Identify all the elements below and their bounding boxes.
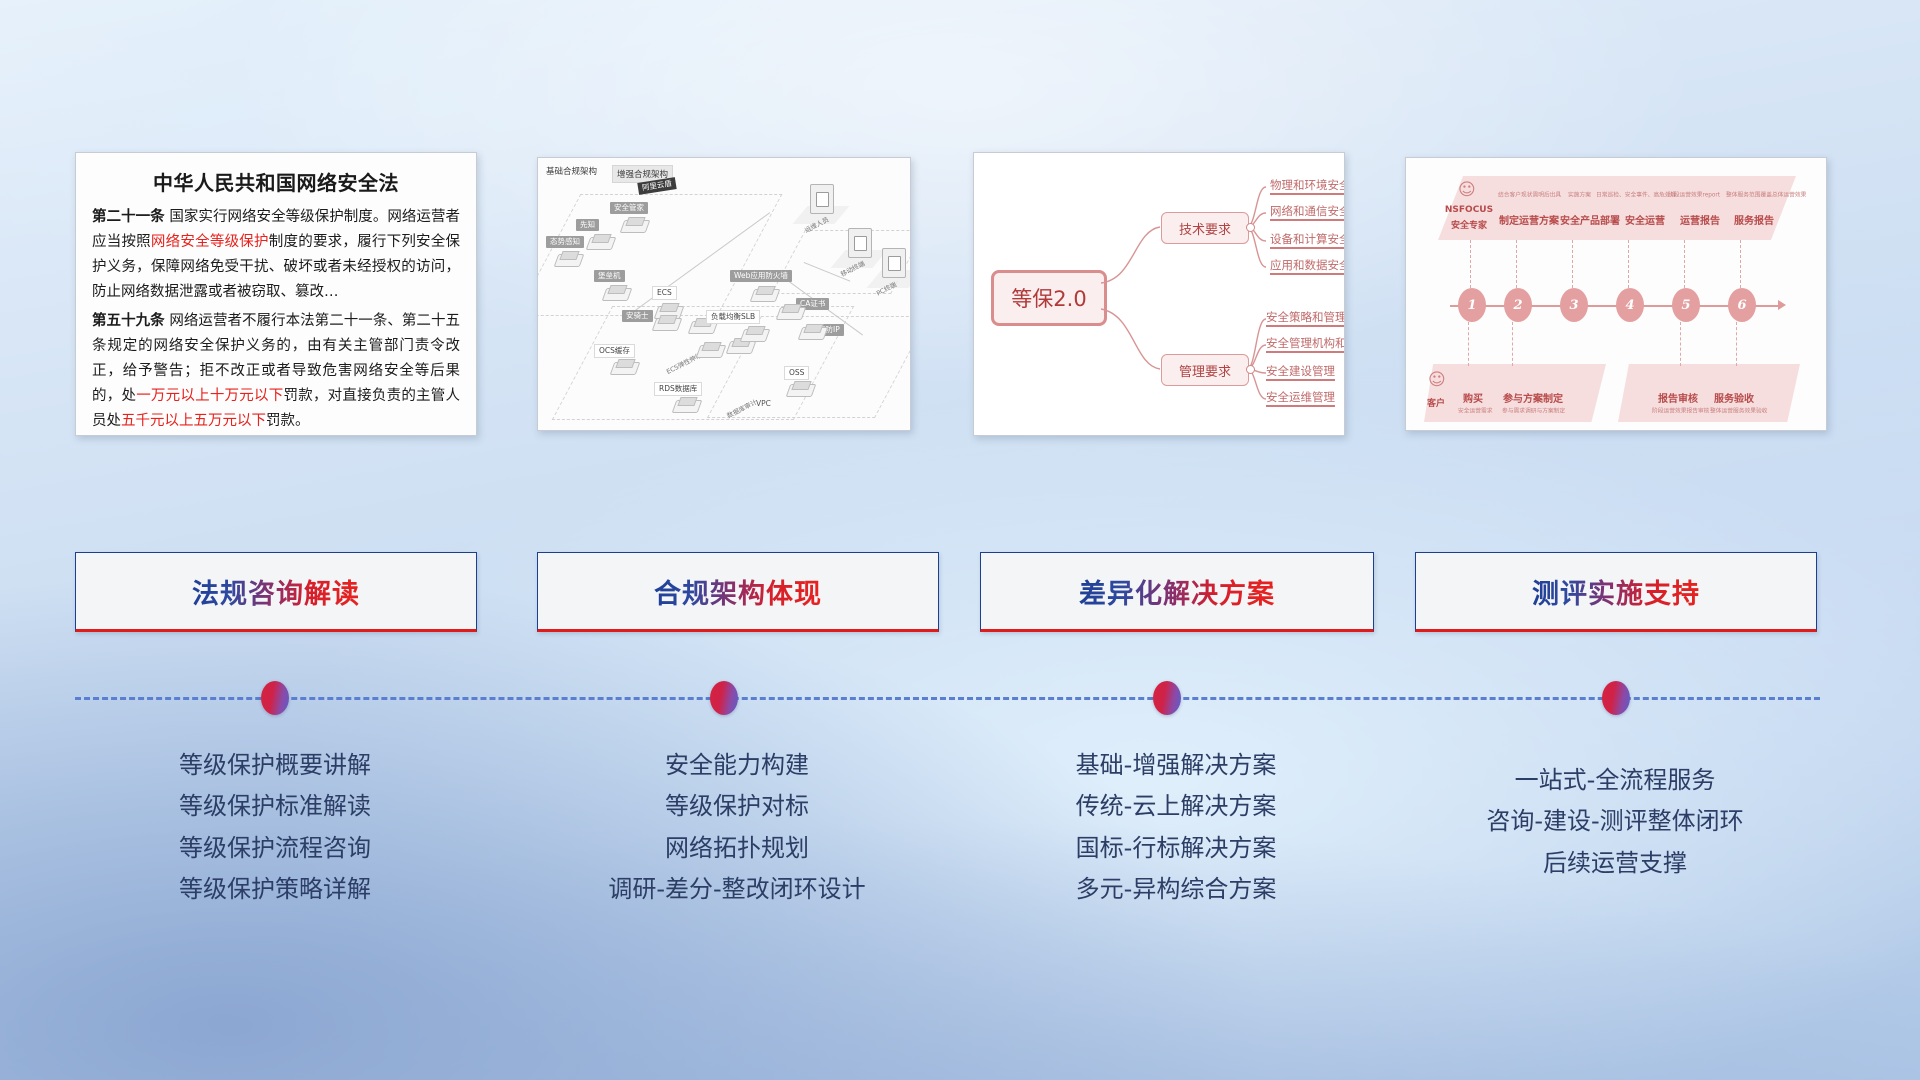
article-59-label: 第五十九条 xyxy=(92,313,165,329)
mindmap-leaf-tech-1: 物理和环境安全 xyxy=(1270,177,1345,195)
timeline-dashed-line xyxy=(75,697,1820,700)
top-step-2-sub: 实施方案 xyxy=(1568,191,1591,199)
top-step-3-sub: 日常巡检、安全事件、高危处理 xyxy=(1596,191,1676,199)
node-label-bastion: 堡垒机 xyxy=(594,270,625,282)
article-21-label: 第二十一条 xyxy=(92,209,165,225)
leaf-text: 设备和计算安全 xyxy=(1270,232,1345,246)
bottom-step-4-label: 服务验收 xyxy=(1710,390,1758,405)
node-label-xianzhi: 先知 xyxy=(576,219,599,231)
roadmap-axis-arrow xyxy=(1778,300,1786,310)
expert-person-icon: ☺ xyxy=(1458,182,1476,199)
list-item: 基础-增强解决方案 xyxy=(980,745,1372,786)
architecture-diagram: 基础合规架构 增强合规架构 阿里云盾 安全管家 先知 态势感知 堡垒机 ECS xyxy=(538,158,910,430)
customer-label: 客户 xyxy=(1416,396,1456,409)
article-21-highlight: 网络安全等级保护 xyxy=(151,234,269,250)
mindmap-leaf-mgmt-3: 安全建设管理 xyxy=(1266,363,1335,381)
roadmap-step-number-2: 2 xyxy=(1504,288,1532,322)
leaf-text: 物理和环境安全 xyxy=(1270,178,1345,192)
section-title-box-1[interactable]: 法规咨询解读 xyxy=(75,552,477,632)
node-label-situ: 态势感知 xyxy=(546,236,584,248)
ops-icon xyxy=(810,184,834,214)
leaf-text: 应用和数据安全 xyxy=(1270,258,1345,272)
section-title-box-4[interactable]: 测评实施支持 xyxy=(1415,552,1817,632)
brand-subtitle: 安全专家 xyxy=(1436,218,1502,231)
cloud-architecture-card: 基础合规架构 增强合规架构 阿里云盾 安全管家 先知 态势感知 堡垒机 ECS xyxy=(537,157,911,431)
operations-roadmap-card: ☺ NSFOCUS 安全专家 结合客户现状需明后出具 制定运营方案 实施方案 安… xyxy=(1405,157,1827,431)
mindmap-card: 等保2.0 技术要求 物理和环境安全 网络和通信安全 设备和计算安全 应用和数据… xyxy=(973,152,1345,436)
law-card-title: 中华人民共和国网络安全法 xyxy=(92,167,460,196)
timeline-marker-2[interactable] xyxy=(710,681,738,715)
mindmap-leaf-tech-3: 设备和计算安全 xyxy=(1270,231,1345,249)
connector-3 xyxy=(1572,240,1574,288)
list-item: 多元-异构综合方案 xyxy=(980,869,1372,910)
top-step-1-label: 制定运营方案 xyxy=(1498,212,1560,227)
xianzhi-icon xyxy=(588,232,614,252)
mindmap-branch-technical: 技术要求 xyxy=(1161,212,1249,244)
bottom-step-3-label: 报告审核 xyxy=(1654,390,1702,405)
ca-icon xyxy=(778,302,804,322)
connector-6 xyxy=(1740,240,1742,288)
top-step-5-label: 服务报告 xyxy=(1728,212,1780,227)
connector-4 xyxy=(1628,240,1630,288)
mindmap-leaf-mgmt-2: 安全管理机构和人员 xyxy=(1266,335,1345,353)
top-step-3-label: 安全运营 xyxy=(1616,212,1674,227)
list-item: 安全能力构建 xyxy=(537,745,937,786)
gaofang-icon xyxy=(800,322,826,342)
leaf-text: 安全策略和管理制度 xyxy=(1266,310,1345,324)
section-title-1: 法规咨询解读 xyxy=(192,572,360,611)
mindmap-leaf-mgmt-1: 安全策略和管理制度 xyxy=(1266,309,1345,327)
section-title-box-2[interactable]: 合规架构体现 xyxy=(537,552,939,632)
law-article-21: 第二十一条 国家实行网络安全等级保护制度。网络运营者应当按照网络安全等级保护制度… xyxy=(92,205,460,305)
mindmap-dot-technical xyxy=(1246,223,1255,232)
node-label-knight: 安骑士 xyxy=(622,310,653,322)
bottom-step-1-label: 购买 xyxy=(1456,390,1490,405)
bottom-step-2-sub: 参与需求调研与方案制定 xyxy=(1502,407,1565,415)
mobile-icon xyxy=(848,228,872,258)
top-step-4-label: 运营报告 xyxy=(1674,212,1726,227)
section-title-2: 合规架构体现 xyxy=(654,572,822,611)
connector-b4 xyxy=(1736,322,1738,366)
oss-icon xyxy=(788,379,814,399)
section-title-3: 差异化解决方案 xyxy=(1079,572,1275,611)
section-title-box-3[interactable]: 差异化解决方案 xyxy=(980,552,1374,632)
section-list-3: 基础-增强解决方案 传统-云上解决方案 国标-行标解决方案 多元-异构综合方案 xyxy=(980,745,1372,910)
bottom-step-3-sub: 阶段运营效果报告审核 xyxy=(1652,407,1709,415)
connector-1 xyxy=(1470,240,1472,288)
knight-icon xyxy=(654,313,680,333)
bottom-step-1-sub: 安全运营需求 xyxy=(1458,407,1492,415)
top-step-4-sub: 阶段运营效果report xyxy=(1668,191,1720,199)
mindmap-leaf-mgmt-4: 安全运维管理 xyxy=(1266,389,1335,407)
list-item: 一站式-全流程服务 xyxy=(1415,760,1815,801)
node-label-waf: Web应用防火墙 xyxy=(730,270,792,282)
leaf-text: 网络和通信安全 xyxy=(1270,204,1345,218)
list-item: 等级保护对标 xyxy=(537,786,937,827)
roadmap-step-number-6: 6 xyxy=(1728,288,1756,322)
connector-2 xyxy=(1516,240,1518,288)
mindmap-dot-management xyxy=(1246,365,1255,374)
roadmap-step-number-4: 4 xyxy=(1616,288,1644,322)
list-item: 国标-行标解决方案 xyxy=(980,828,1372,869)
connector-b1 xyxy=(1468,322,1470,366)
waf-icon xyxy=(752,284,778,304)
slb-icon xyxy=(742,324,768,344)
timeline-marker-4[interactable] xyxy=(1602,681,1630,715)
timeline-marker-1[interactable] xyxy=(261,681,289,715)
top-step-1-sub: 结合客户现状需明后出具 xyxy=(1498,191,1561,199)
roadmap-step-number-5: 5 xyxy=(1672,288,1700,322)
article-59-highlight-1: 一万元以上十万元以下 xyxy=(136,388,283,404)
rds-icon xyxy=(674,395,700,415)
leaf-text: 安全管理机构和人员 xyxy=(1266,336,1345,350)
situ-icon xyxy=(556,249,582,269)
bottom-step-2-label: 参与方案制定 xyxy=(1500,390,1566,405)
list-item: 调研-差分-整改闭环设计 xyxy=(537,869,937,910)
law-article-59: 第五十九条 网络运营者不履行本法第二十一条、第二十五条规定的网络安全保护义务的，… xyxy=(92,309,460,434)
leaf-text: 安全建设管理 xyxy=(1266,364,1335,378)
connector-5 xyxy=(1684,240,1686,288)
top-step-5-sub: 整体服务范围覆盖总体运营效果 xyxy=(1726,191,1806,199)
customer-person-icon: ☺ xyxy=(1428,372,1446,389)
connector-b3 xyxy=(1680,322,1682,366)
mindmap: 等保2.0 技术要求 物理和环境安全 网络和通信安全 设备和计算安全 应用和数据… xyxy=(974,153,1344,435)
section-list-1: 等级保护概要讲解 等级保护标准解读 等级保护流程咨询 等级保护策略详解 xyxy=(75,745,475,910)
section-list-2: 安全能力构建 等级保护对标 网络拓扑规划 调研-差分-整改闭环设计 xyxy=(537,745,937,910)
list-item: 等级保护标准解读 xyxy=(75,786,475,827)
mindmap-branch-management: 管理要求 xyxy=(1161,354,1249,386)
roadmap-diagram: ☺ NSFOCUS 安全专家 结合客户现状需明后出具 制定运营方案 实施方案 安… xyxy=(1406,158,1826,430)
node-label-guard: 安全管家 xyxy=(610,202,648,214)
bastion-icon xyxy=(604,283,630,303)
list-item: 等级保护概要讲解 xyxy=(75,745,475,786)
node-label-ecs: ECS xyxy=(652,286,677,300)
leaf-text: 安全运维管理 xyxy=(1266,390,1335,404)
section-title-4: 测评实施支持 xyxy=(1532,572,1700,611)
pc-icon xyxy=(882,248,906,278)
law-text-card: 中华人民共和国网络安全法 第二十一条 国家实行网络安全等级保护制度。网络运营者应… xyxy=(75,152,477,436)
list-item: 传统-云上解决方案 xyxy=(980,786,1372,827)
article-59-highlight-2: 五千元以上五万元以下 xyxy=(121,413,266,429)
mindmap-leaf-tech-2: 网络和通信安全 xyxy=(1270,203,1345,221)
list-item: 后续运营支撑 xyxy=(1415,843,1815,884)
list-item: 等级保护流程咨询 xyxy=(75,828,475,869)
roadmap-step-number-3: 3 xyxy=(1560,288,1588,322)
roadmap-step-number-1: 1 xyxy=(1458,288,1486,322)
ocs-icon xyxy=(612,357,638,377)
article-59-text-c: 罚款。 xyxy=(266,413,310,429)
timeline-marker-3[interactable] xyxy=(1153,681,1181,715)
top-cards-row: 中华人民共和国网络安全法 第二十一条 国家实行网络安全等级保护制度。网络运营者应… xyxy=(0,0,1920,440)
mindmap-leaf-tech-4: 应用和数据安全 xyxy=(1270,257,1345,275)
section-list-4: 一站式-全流程服务 咨询-建设-测评整体闭环 后续运营支撑 xyxy=(1415,760,1815,884)
connector-b2 xyxy=(1512,322,1514,366)
bottom-step-4-sub: 整体运营服务效果验收 xyxy=(1710,407,1767,415)
tab-basic-architecture[interactable]: 基础合规架构 xyxy=(546,165,597,177)
brand-name: NSFOCUS xyxy=(1436,205,1502,215)
ecs3-icon xyxy=(698,340,724,360)
list-item: 等级保护策略详解 xyxy=(75,869,475,910)
node-label-slb: 负载均衡SLB xyxy=(706,310,760,324)
list-item: 网络拓扑规划 xyxy=(537,828,937,869)
list-item: 咨询-建设-测评整体闭环 xyxy=(1415,801,1815,842)
guard-icon xyxy=(622,215,648,235)
